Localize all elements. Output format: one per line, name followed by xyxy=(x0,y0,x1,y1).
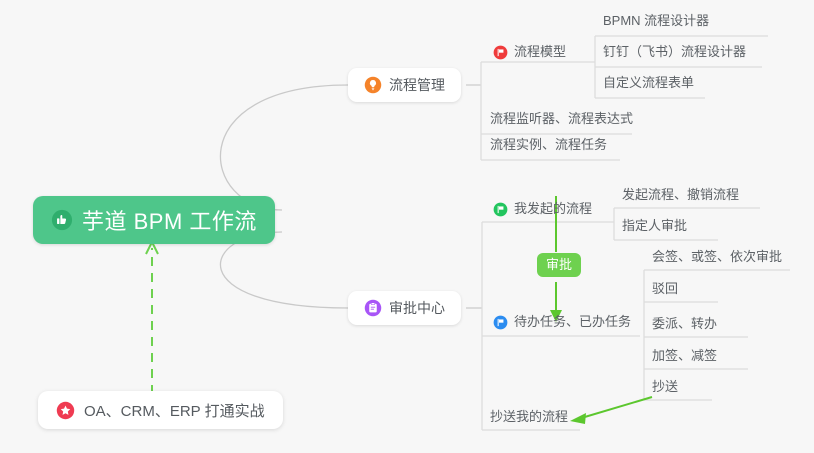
leaf-reject[interactable]: 驳回 xyxy=(652,281,678,301)
thumbs-up-icon xyxy=(51,209,73,231)
leaf-add-remove-sign[interactable]: 加签、减签 xyxy=(652,348,717,368)
star-icon xyxy=(56,401,75,420)
leaf-label-start-cancel-process: 发起流程、撤销流程 xyxy=(622,187,739,203)
integration-card[interactable]: OA、CRM、ERP 打通实战 xyxy=(38,391,283,429)
leaf-label-reject: 驳回 xyxy=(652,281,678,297)
leaf-cc-my-process[interactable]: 抄送我的流程 xyxy=(490,409,568,429)
lightbulb-icon xyxy=(364,76,382,94)
leaf-process-model[interactable]: 流程模型 xyxy=(493,44,566,64)
branch-node-process-management[interactable]: 流程管理 xyxy=(348,68,461,102)
root-node[interactable]: 芋道 BPM 工作流 xyxy=(33,196,275,244)
leaf-label-assignee-approval: 指定人审批 xyxy=(622,218,687,234)
branch-label-process-management: 流程管理 xyxy=(389,75,445,95)
wire-cc-to-cc-my-process xyxy=(578,397,652,419)
leaf-label-todo-done-tasks: 待办任务、已办任务 xyxy=(514,314,631,330)
mindmap-canvas: 芋道 BPM 工作流 流程管理 流程模型 BPMN 流程设计器 钉钉（飞书）流程 xyxy=(0,0,814,453)
leaf-my-initiated[interactable]: 我发起的流程 xyxy=(493,201,592,221)
leaf-dingtalk-designer[interactable]: 钉钉（飞书）流程设计器 xyxy=(603,44,746,64)
approval-badge: 审批 xyxy=(537,253,581,277)
leaf-countersign[interactable]: 会签、或签、依次审批 xyxy=(652,249,782,269)
leaf-custom-form[interactable]: 自定义流程表单 xyxy=(603,75,694,95)
leaf-label-add-remove-sign: 加签、减签 xyxy=(652,348,717,364)
approval-badge-label: 审批 xyxy=(546,257,572,272)
leaf-label-custom-form: 自定义流程表单 xyxy=(603,75,694,91)
leaf-label-cc: 抄送 xyxy=(652,379,678,395)
clipboard-icon xyxy=(364,299,382,317)
integration-card-label: OA、CRM、ERP 打通实战 xyxy=(84,400,265,421)
leaf-assignee-approval[interactable]: 指定人审批 xyxy=(622,218,687,238)
leaf-label-delegate-transfer: 委派、转办 xyxy=(652,316,717,332)
arrowhead-cc-left xyxy=(570,413,586,424)
leaf-cc[interactable]: 抄送 xyxy=(652,379,678,399)
leaf-process-listener[interactable]: 流程监听器、流程表达式 xyxy=(490,111,633,131)
leaf-label-cc-my-process: 抄送我的流程 xyxy=(490,409,568,425)
branch-node-approval-center[interactable]: 审批中心 xyxy=(348,291,461,325)
leaf-process-instance[interactable]: 流程实例、流程任务 xyxy=(490,137,607,157)
leaf-label-bpmn-designer: BPMN 流程设计器 xyxy=(603,13,709,29)
leaf-start-cancel-process[interactable]: 发起流程、撤销流程 xyxy=(622,187,739,207)
wire-root-to-process-management xyxy=(220,85,348,210)
leaf-label-process-instance: 流程实例、流程任务 xyxy=(490,137,607,153)
leaf-delegate-transfer[interactable]: 委派、转办 xyxy=(652,316,717,336)
leaf-label-my-initiated: 我发起的流程 xyxy=(514,201,592,217)
leaf-bpmn-designer[interactable]: BPMN 流程设计器 xyxy=(603,13,709,33)
leaf-todo-done-tasks[interactable]: 待办任务、已办任务 xyxy=(493,314,631,334)
leaf-label-process-listener: 流程监听器、流程表达式 xyxy=(490,111,633,127)
leaf-label-process-model: 流程模型 xyxy=(514,44,566,60)
leaf-label-dingtalk-designer: 钉钉（飞书）流程设计器 xyxy=(603,44,746,60)
flag-icon xyxy=(493,45,508,60)
flag-icon xyxy=(493,202,508,217)
branch-label-approval-center: 审批中心 xyxy=(389,298,445,318)
flag-icon xyxy=(493,315,508,330)
root-label: 芋道 BPM 工作流 xyxy=(82,204,257,236)
leaf-label-countersign: 会签、或签、依次审批 xyxy=(652,249,782,265)
